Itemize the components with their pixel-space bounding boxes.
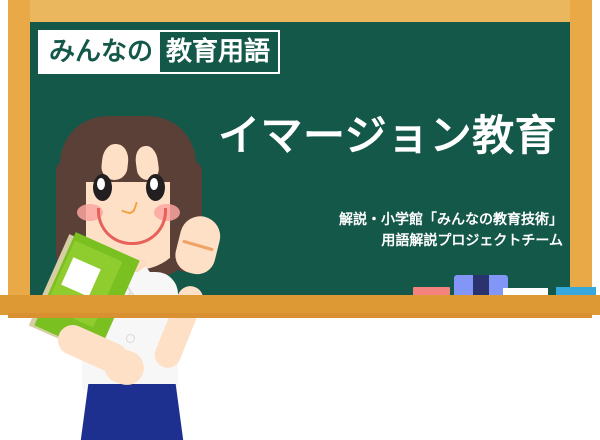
- chalkboard-frame-right: [570, 0, 592, 295]
- eye-highlight-left: [97, 178, 105, 190]
- illustration-canvas: みんなの 教育用語 イマージョン教育 解説・小学館「みんなの教育技術」 用語解説…: [0, 0, 600, 440]
- ledge-book-middle: [473, 275, 489, 296]
- subtitle-line-2: 用語解説プロジェクトチーム: [243, 231, 563, 252]
- badge-label-minna: みんなの: [40, 32, 160, 72]
- subtitle: 解説・小学館「みんなの教育技術」 用語解説プロジェクトチーム: [243, 210, 563, 252]
- page-title: イマージョン教育: [218, 112, 563, 159]
- ledge-book-left: [454, 275, 473, 296]
- chalk-ledge-shadow: [8, 313, 592, 318]
- chalkboard-frame-left: [8, 0, 30, 295]
- chalkboard-frame-top: [8, 0, 592, 22]
- subtitle-line-1: 解説・小学館「みんなの教育技術」: [243, 210, 563, 231]
- teacher-illustration: [30, 112, 245, 440]
- hair-fringe: [60, 116, 196, 182]
- series-badge: みんなの 教育用語: [38, 30, 280, 74]
- badge-label-kyouikuyougo: 教育用語: [160, 32, 278, 72]
- eye-highlight-right: [150, 178, 158, 190]
- blouse-button-2: [126, 334, 135, 343]
- skirt: [80, 384, 184, 440]
- chalk-ledge: [0, 295, 600, 315]
